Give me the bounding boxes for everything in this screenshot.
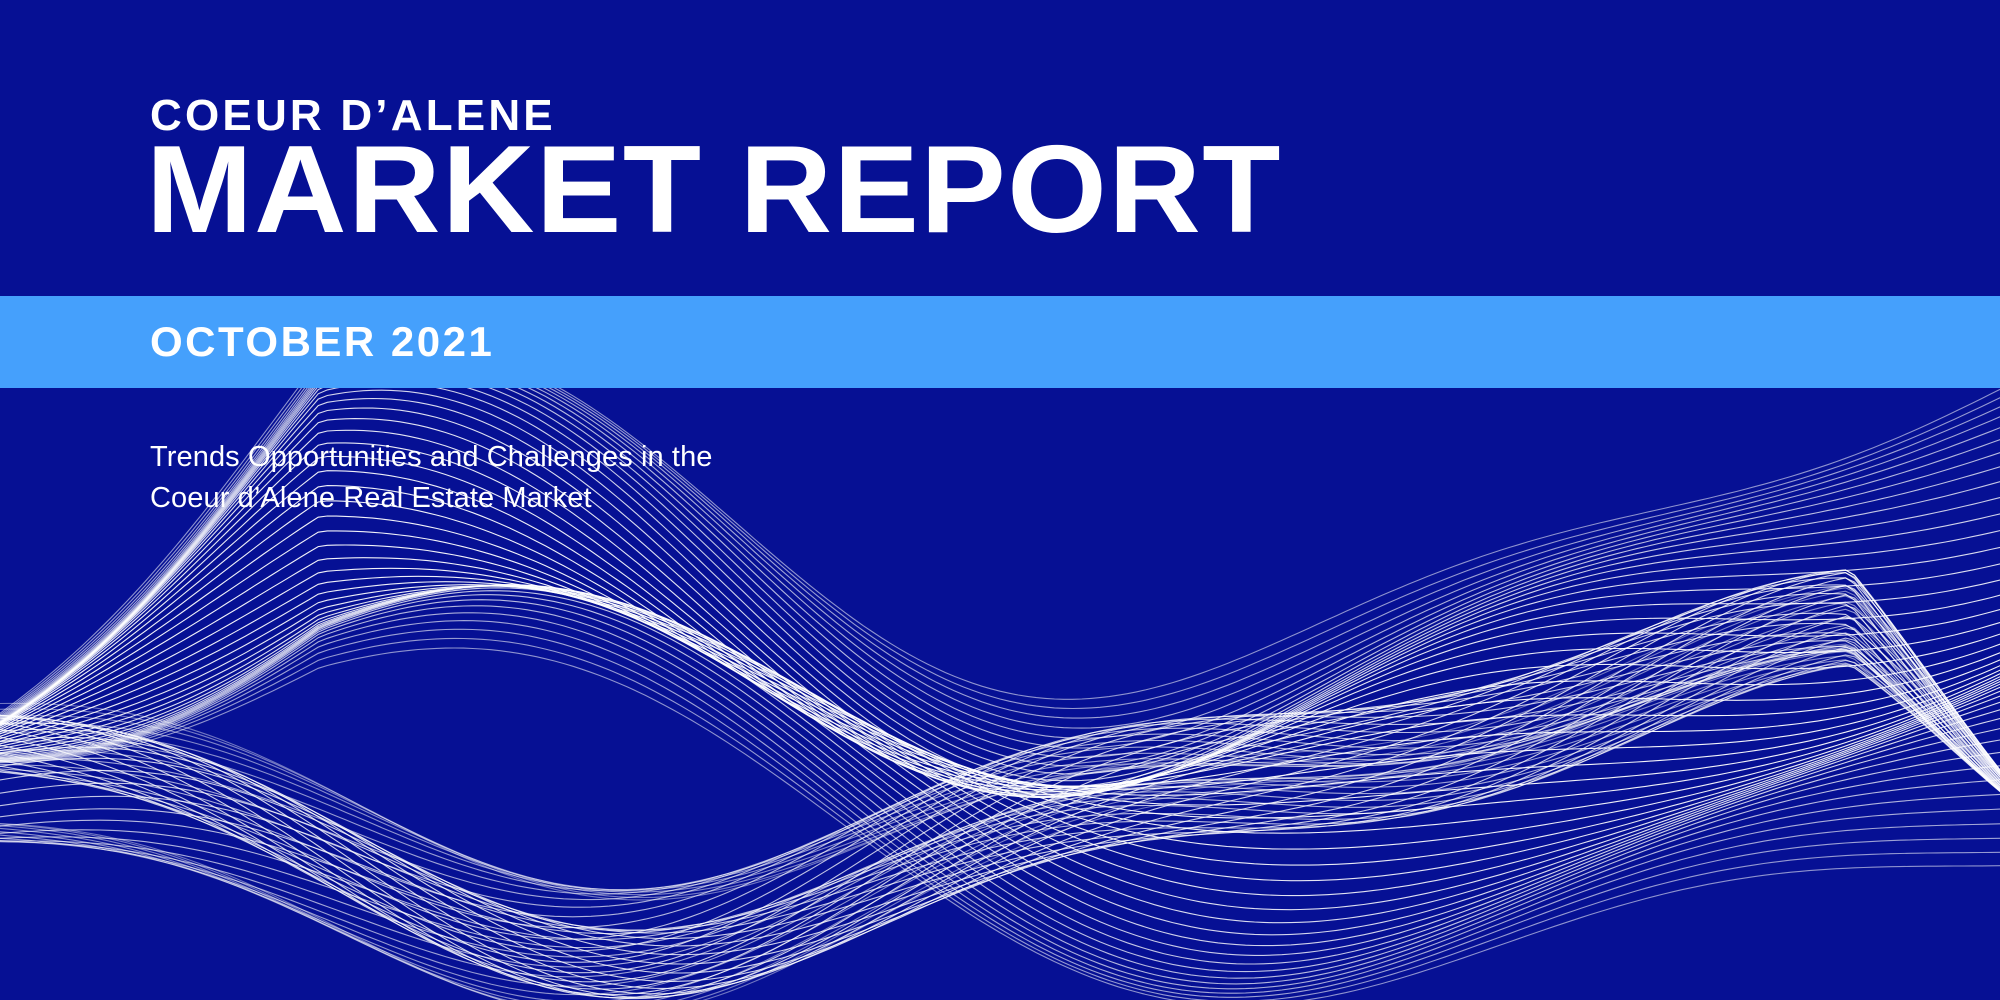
page-title: MARKET REPORT	[146, 128, 1282, 252]
cover-subtitle-line-2: Coeur d’Alene Real Estate Market	[150, 478, 713, 519]
date-band: OCTOBER 2021	[0, 296, 2000, 388]
cover-subtitle-line-1: Trends Opportunities and Challenges in t…	[150, 437, 713, 478]
report-cover: COEUR D’ALENE MARKET REPORT OCTOBER 2021…	[0, 0, 2000, 1000]
cover-subtitle: Trends Opportunities and Challenges in t…	[150, 437, 713, 519]
date-label: OCTOBER 2021	[150, 321, 494, 363]
